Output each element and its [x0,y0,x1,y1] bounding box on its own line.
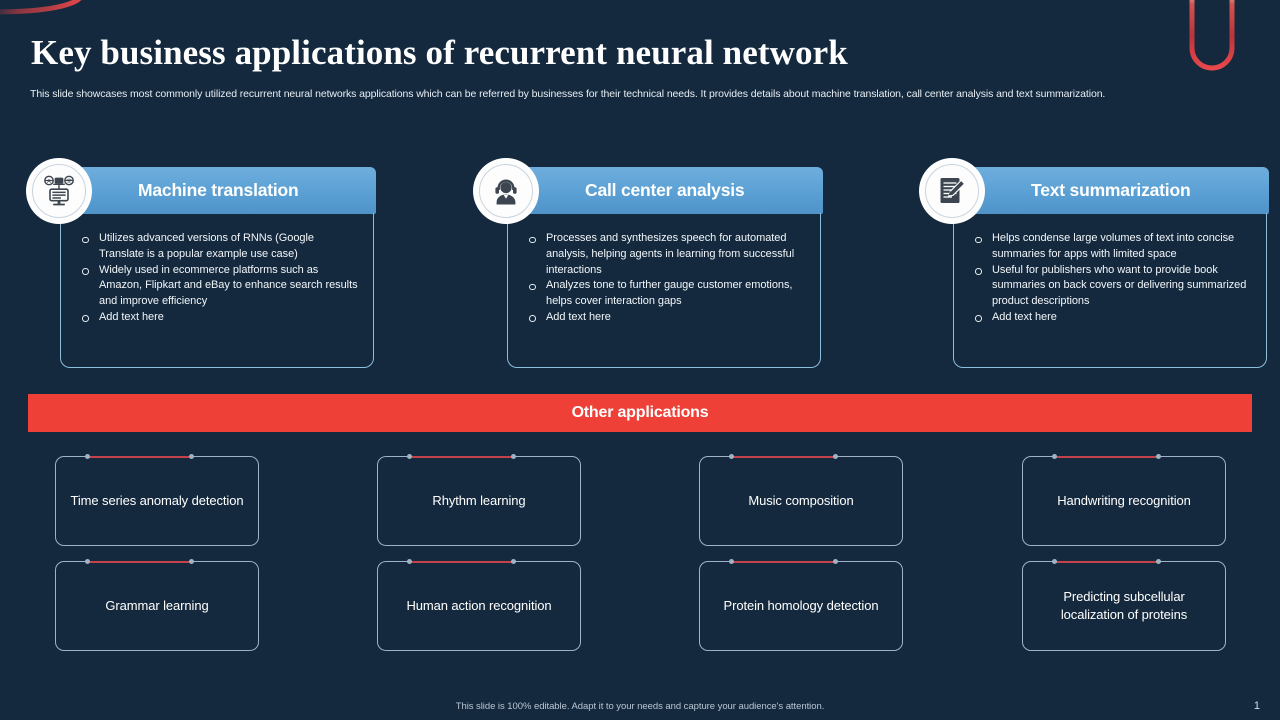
machine-translation-icon: A 文 [28,160,90,222]
application-box-label: Rhythm learning [424,492,533,510]
list-item: Analyzes tone to further gauge customer … [524,278,808,310]
list-item: Processes and synthesizes speech for aut… [524,231,808,278]
list-item: Add text here [77,310,361,326]
application-cards-container: Machine translation A 文 [28,160,1252,375]
application-card-text-summarization[interactable]: Text summarization [921,160,1269,375]
application-box-label: Music composition [740,492,861,510]
card-bullet-list: Utilizes advanced versions of RNNs (Goog… [61,213,373,326]
other-applications-grid: Time series anomaly detection Rhythm lea… [55,456,1227,652]
card-title: Call center analysis [585,180,744,201]
box-accent-line [1055,561,1158,563]
application-box[interactable]: Protein homology detection [699,561,903,651]
application-box-label: Time series anomaly detection [63,492,252,510]
application-box-label: Human action recognition [398,597,559,615]
top-left-swoosh-decoration [0,0,106,26]
list-item: Add text here [524,310,808,326]
application-box[interactable]: Rhythm learning [377,456,581,546]
call-center-agent-icon [475,160,537,222]
svg-text:A: A [47,179,51,185]
box-accent-line [1055,456,1158,458]
list-item: Widely used in ecommerce platforms such … [77,263,361,310]
application-box-label: Grammar learning [97,597,216,615]
application-card-machine-translation[interactable]: Machine translation A 文 [28,160,376,375]
card-header: Text summarization [955,167,1269,214]
card-title: Text summarization [1031,180,1190,201]
box-accent-line [88,561,191,563]
application-box-label: Protein homology detection [716,597,887,615]
card-bullet-list: Processes and synthesizes speech for aut… [508,213,820,326]
list-item: Add text here [970,310,1254,326]
card-header: Call center analysis [509,167,823,214]
box-accent-line [410,561,513,563]
banner-label: Other applications [572,404,709,422]
card-title: Machine translation [138,180,299,201]
list-item: Useful for publishers who want to provid… [970,263,1254,310]
list-item: Utilizes advanced versions of RNNs (Goog… [77,231,361,263]
box-accent-line [732,561,835,563]
application-box[interactable]: Handwriting recognition [1022,456,1226,546]
application-box[interactable]: Human action recognition [377,561,581,651]
page-number: 1 [1254,700,1260,712]
application-box[interactable]: Music composition [699,456,903,546]
card-bullet-list: Helps condense large volumes of text int… [954,213,1266,326]
application-box-label: Predicting subcellular localization of p… [1023,588,1225,624]
box-accent-line [88,456,191,458]
other-applications-banner: Other applications [28,394,1252,432]
application-card-call-center-analysis[interactable]: Call center analysis Processes and synth… [475,160,823,375]
application-box[interactable]: Predicting subcellular localization of p… [1022,561,1226,651]
box-accent-line [410,456,513,458]
document-pen-icon [921,160,983,222]
application-box-label: Handwriting recognition [1049,492,1199,510]
top-right-u-curve-decoration [1182,0,1242,82]
card-body: Processes and synthesizes speech for aut… [507,213,821,368]
box-accent-line [732,456,835,458]
application-box[interactable]: Grammar learning [55,561,259,651]
card-header: Machine translation [62,167,376,214]
slide-description: This slide showcases most commonly utili… [30,88,1210,102]
card-body: Utilizes advanced versions of RNNs (Goog… [60,213,374,368]
page-title: Key business applications of recurrent n… [31,33,848,73]
list-item: Helps condense large volumes of text int… [970,231,1254,263]
footer-note: This slide is 100% editable. Adapt it to… [0,701,1280,712]
application-box[interactable]: Time series anomaly detection [55,456,259,546]
card-body: Helps condense large volumes of text int… [953,213,1267,368]
